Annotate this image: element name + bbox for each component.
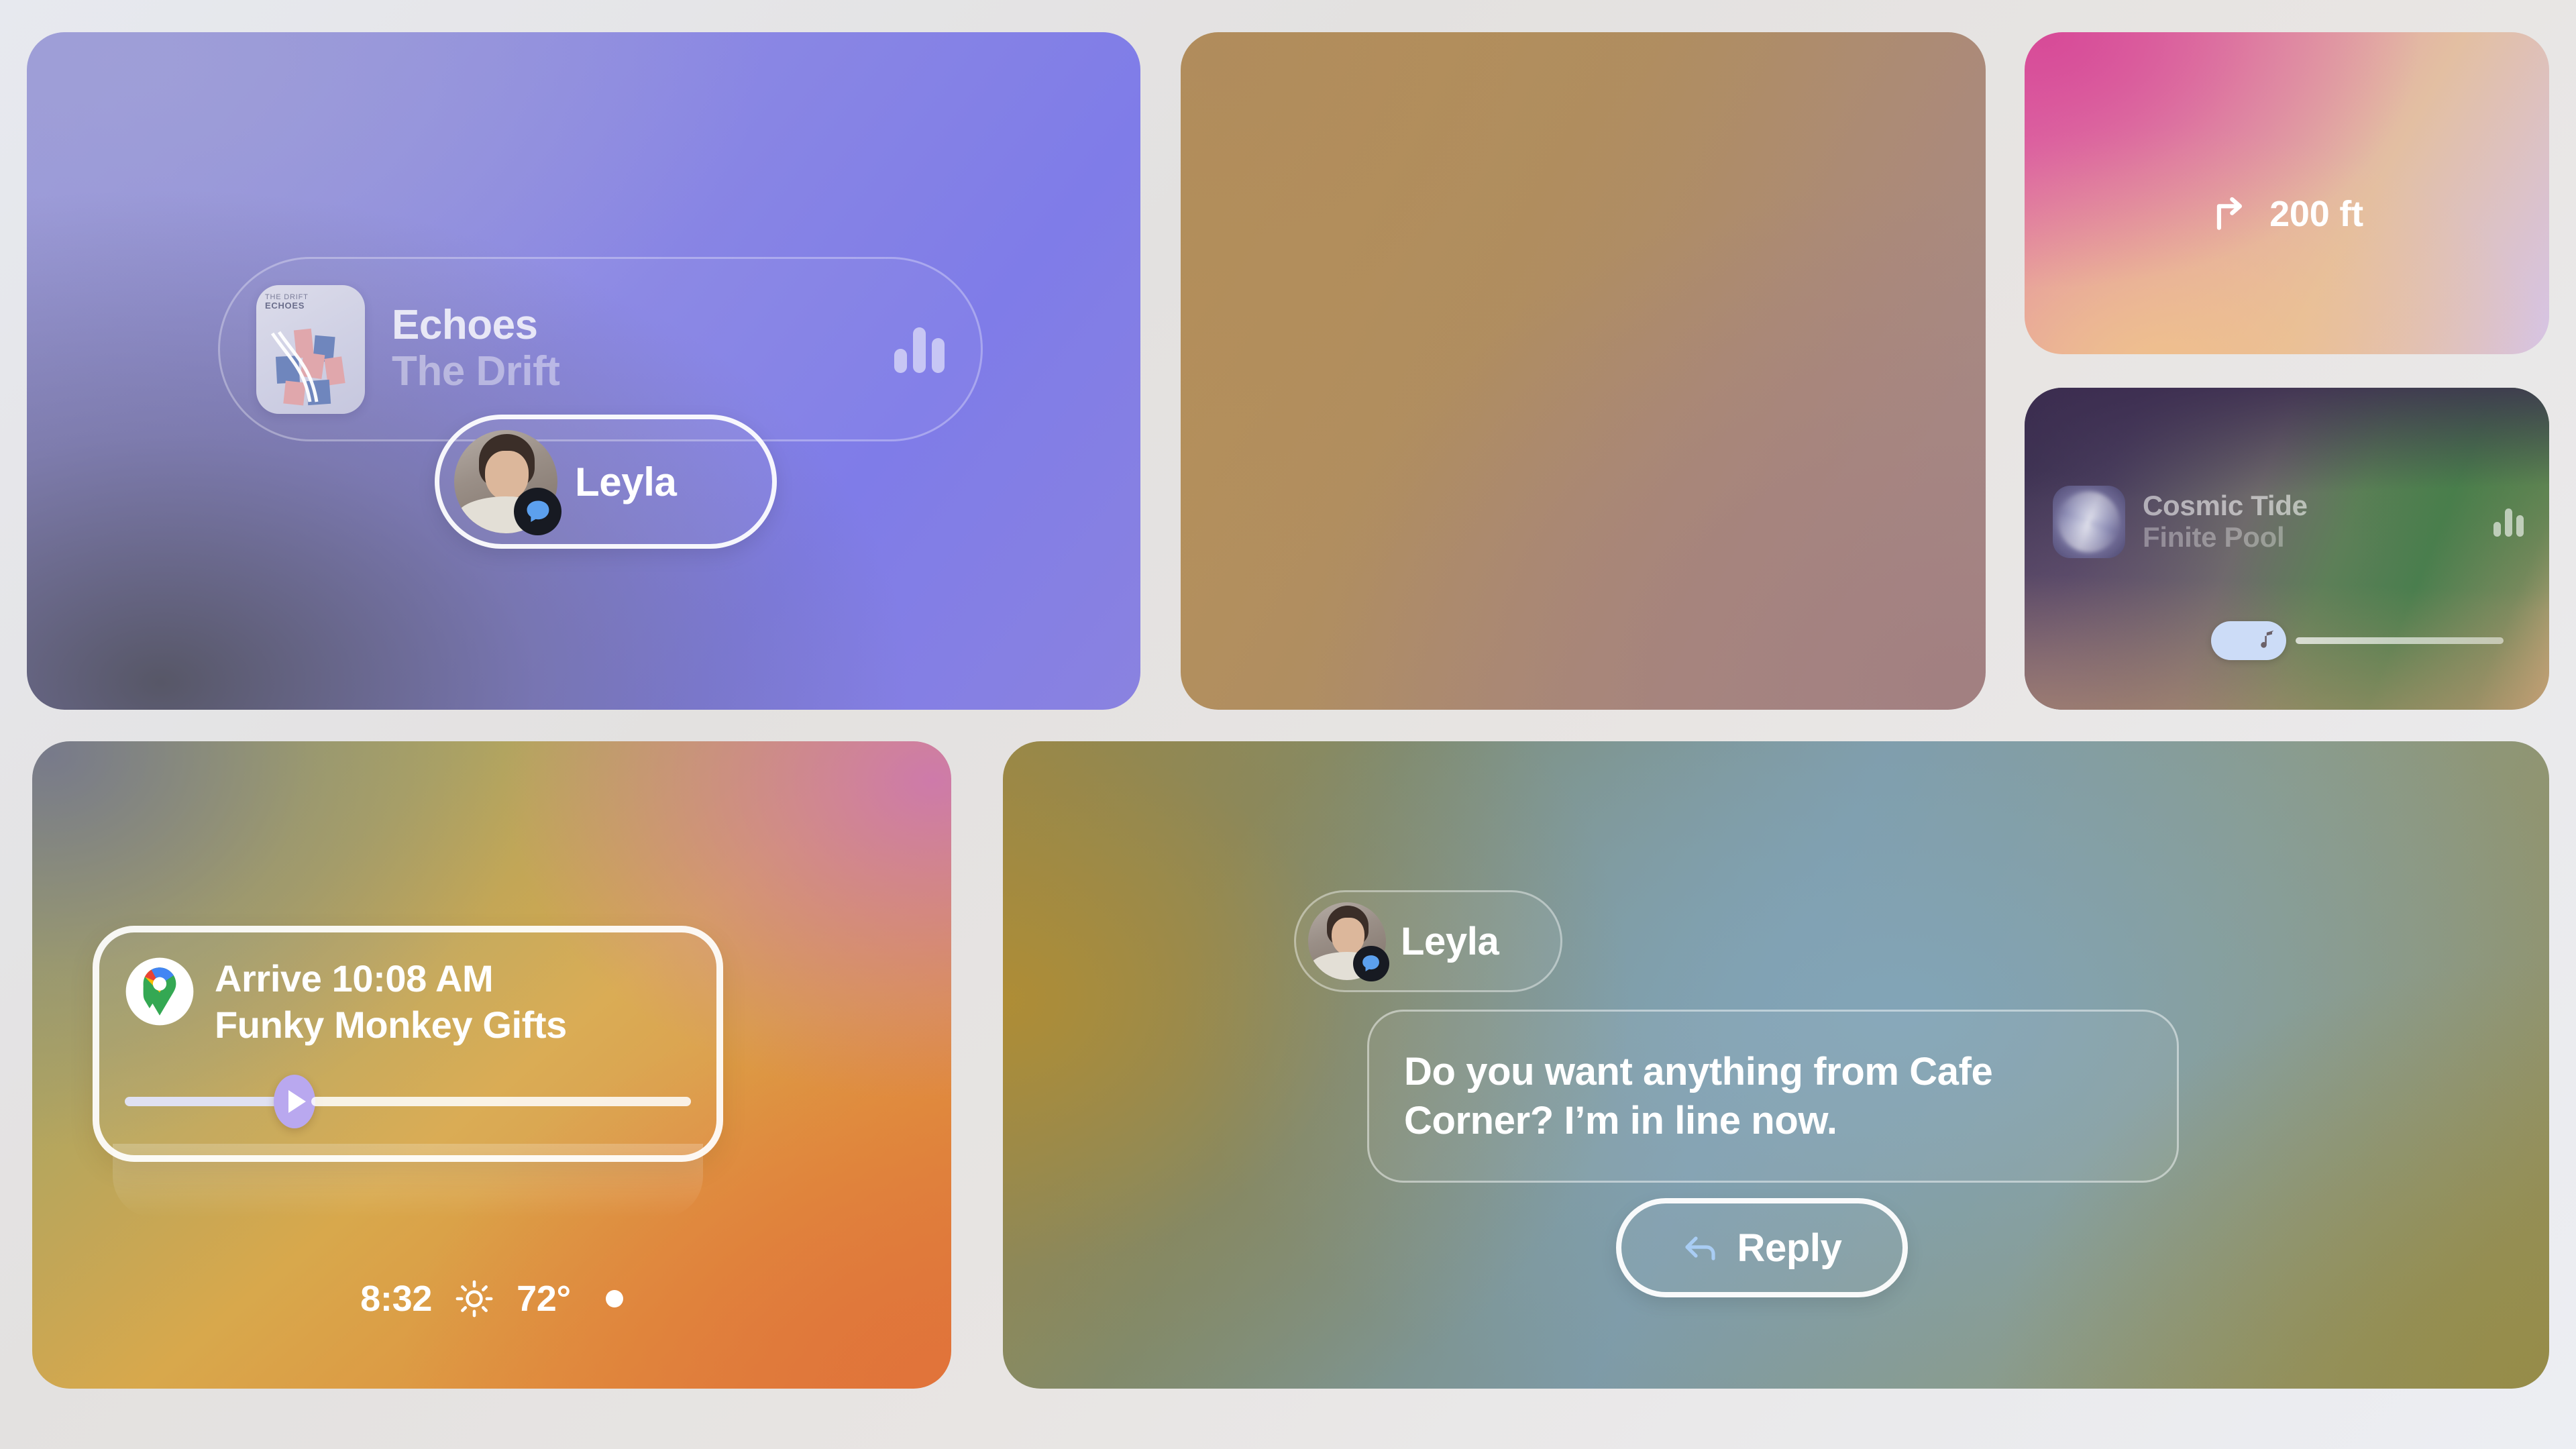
track-artist: The Drift xyxy=(392,350,881,394)
contact-name: Leyla xyxy=(575,459,676,505)
maps-navigation-card[interactable]: Arrive 10:08 AM Funky Monkey Gifts 8:32 … xyxy=(32,741,951,1389)
maps-text: Arrive 10:08 AM Funky Monkey Gifts xyxy=(215,957,567,1046)
cosmic-album-art xyxy=(2053,486,2125,558)
track-title: Echoes xyxy=(392,304,881,347)
turn-right-icon xyxy=(2210,193,2252,235)
cosmic-text: Cosmic Tide Finite Pool xyxy=(2143,490,2493,553)
message-bubble-icon xyxy=(514,488,561,535)
equalizer-icon xyxy=(894,326,945,373)
equalizer-icon xyxy=(2493,507,2524,537)
map-pin-icon xyxy=(125,957,195,1026)
avatar-leyla xyxy=(454,430,557,533)
progress-remaining xyxy=(311,1097,691,1106)
reply-button[interactable]: Reply xyxy=(1616,1198,1908,1297)
maps-panel[interactable]: Arrive 10:08 AM Funky Monkey Gifts xyxy=(93,926,723,1162)
play-triangle-icon[interactable] xyxy=(274,1075,315,1128)
contact-pill-leyla[interactable]: Leyla xyxy=(435,415,777,549)
avatar-leyla xyxy=(1308,902,1386,980)
music-now-playing-card[interactable]: THE DRIFT ECHOES Echoes The Drift xyxy=(27,32,1140,710)
reply-arrow-icon xyxy=(1682,1232,1720,1264)
message-sender-name: Leyla xyxy=(1401,919,1499,964)
maps-destination-label: Funky Monkey Gifts xyxy=(215,1004,567,1046)
now-playing-text: Echoes The Drift xyxy=(392,304,881,394)
music-note-icon xyxy=(2258,629,2277,652)
cosmic-track-artist: Finite Pool xyxy=(2143,521,2493,553)
album-art-line1: THE DRIFT xyxy=(265,293,309,302)
message-bubble[interactable]: Do you want anything from Cafe Corner? I… xyxy=(1367,1010,2179,1183)
cosmic-slider-track[interactable] xyxy=(2296,637,2504,644)
maps-header: Arrive 10:08 AM Funky Monkey Gifts xyxy=(125,957,567,1046)
reply-button-label: Reply xyxy=(1737,1226,1842,1271)
quick-replies-card[interactable]: To: Michael I’d love a cappuccino No tha… xyxy=(1181,32,1986,710)
maps-progress-slider[interactable] xyxy=(125,1081,691,1122)
progress-filled xyxy=(125,1097,278,1106)
now-playing-bar[interactable]: THE DRIFT ECHOES Echoes The Drift xyxy=(218,257,983,441)
cosmic-volume-slider[interactable] xyxy=(2211,621,2521,660)
cosmic-now-playing-row: Cosmic Tide Finite Pool xyxy=(2053,486,2524,558)
music-note-knob[interactable] xyxy=(2211,621,2286,660)
message-bubble-icon xyxy=(1353,946,1389,981)
album-art-line2: ECHOES xyxy=(265,301,309,311)
status-row: 8:32 72° xyxy=(32,1278,951,1320)
sun-icon xyxy=(455,1279,494,1318)
album-art-caption: THE DRIFT ECHOES xyxy=(265,293,309,312)
message-text: Do you want anything from Cafe Corner? I… xyxy=(1404,1047,2142,1145)
navigation-distance-label: 200 ft xyxy=(2269,193,2363,235)
status-temperature: 72° xyxy=(517,1278,571,1320)
navigation-row: 200 ft xyxy=(2025,193,2549,235)
maps-eta-label: Arrive 10:08 AM xyxy=(215,958,567,1000)
status-time: 8:32 xyxy=(360,1278,432,1320)
message-sender-pill[interactable]: Leyla xyxy=(1294,890,1562,992)
album-art-thumbnail: THE DRIFT ECHOES xyxy=(256,285,365,414)
status-dot xyxy=(606,1290,623,1307)
album-art-artwork xyxy=(270,327,357,407)
cosmic-track-title: Cosmic Tide xyxy=(2143,490,2493,521)
navigation-distance-card[interactable]: 200 ft xyxy=(2025,32,2549,354)
cosmic-tide-player-card[interactable]: Cosmic Tide Finite Pool xyxy=(2025,388,2549,710)
